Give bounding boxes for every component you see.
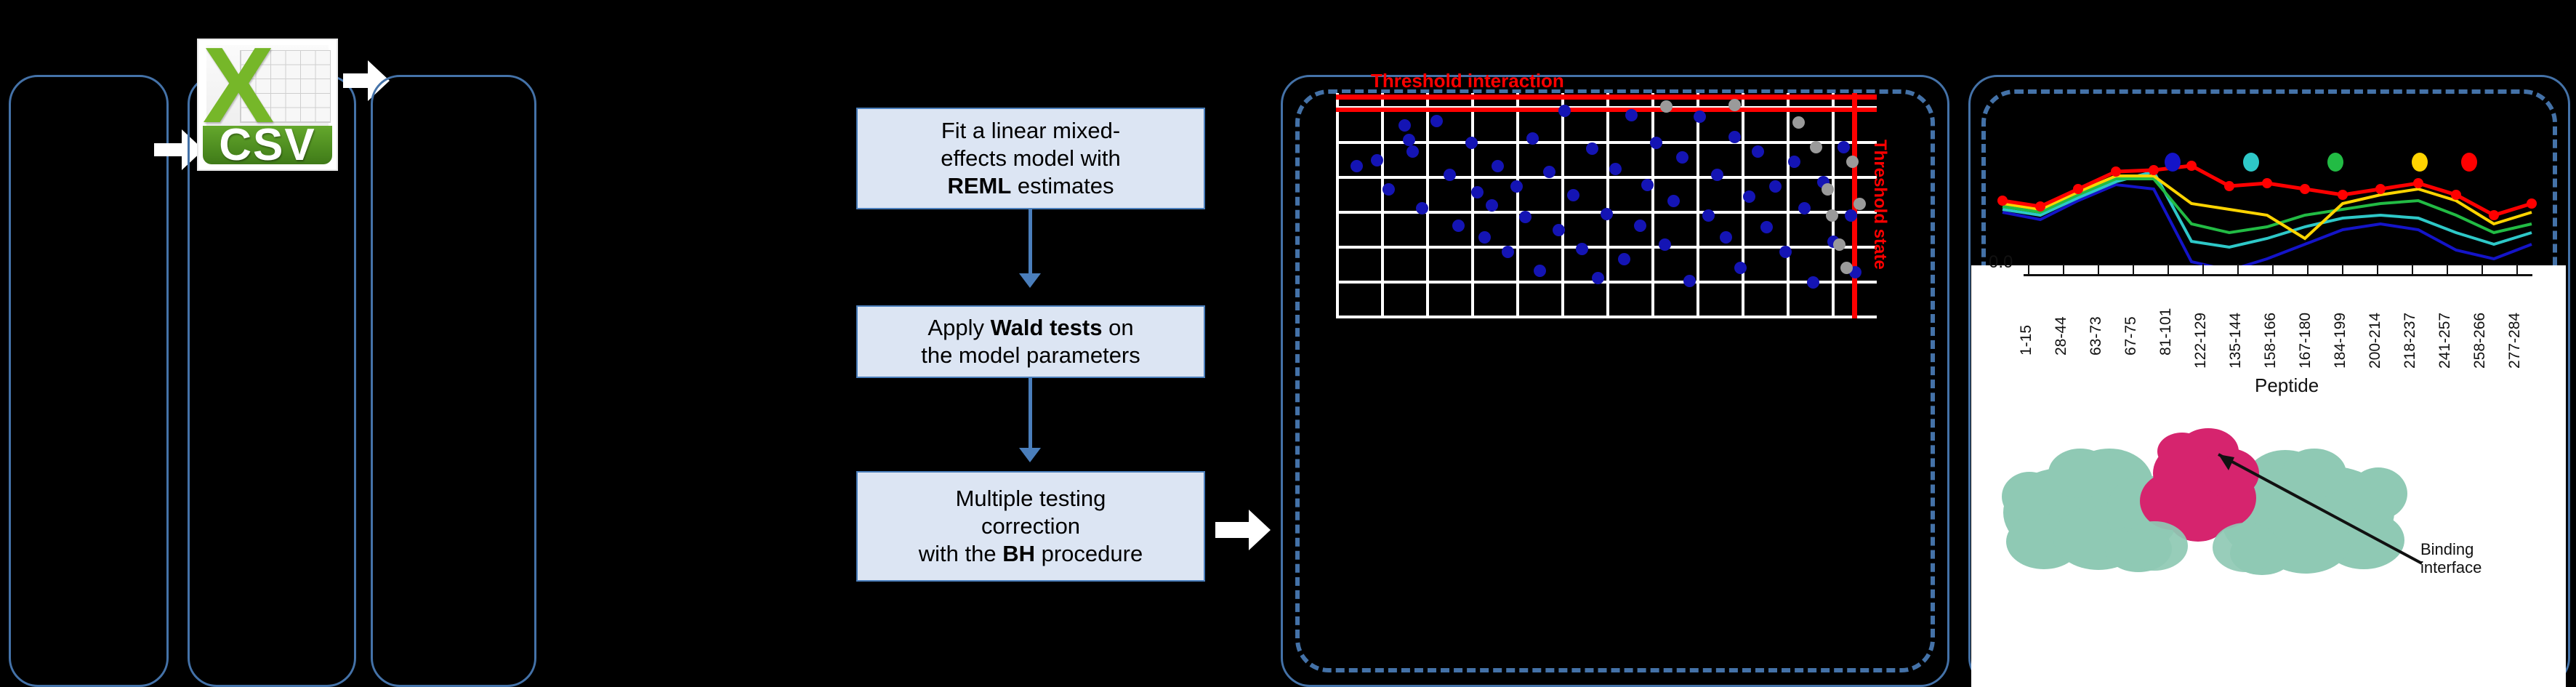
scatter-point	[1694, 111, 1706, 123]
x-axis-tick	[2307, 264, 2309, 274]
x-axis-tick	[2377, 264, 2378, 274]
scatter-point	[1382, 183, 1395, 196]
scatter-plot-area	[1336, 93, 1877, 318]
scatter-point	[1534, 265, 1546, 277]
x-axis-tick	[2063, 264, 2064, 274]
scatter-point	[1618, 253, 1630, 265]
scatter-point	[1625, 109, 1638, 121]
scatter-point	[1807, 276, 1819, 289]
scatter-point	[1779, 246, 1792, 258]
scatter-point-grey	[1660, 100, 1673, 113]
scatter-point	[1543, 166, 1555, 178]
scatter-threshold-interaction-label: Threshold interaction	[1371, 70, 1564, 92]
figure-canvas: X CSV Fit a linear mixed-effects model w…	[0, 0, 2576, 687]
x-tick-label: 258-266	[2471, 313, 2489, 369]
scatter-point	[1743, 190, 1755, 203]
scatter-point	[1634, 220, 1646, 232]
scatter-point	[1416, 202, 1428, 214]
scatter-point-grey	[1833, 238, 1846, 251]
scatter-point	[1471, 186, 1484, 198]
scatter-point	[1567, 189, 1579, 201]
scatter-point	[1676, 151, 1689, 164]
x-axis-tick	[2028, 264, 2029, 274]
x-axis-tick	[2516, 264, 2518, 274]
x-tick-label: 167-180	[2297, 313, 2314, 369]
scatter-point	[1752, 145, 1764, 158]
scatter-point	[1798, 202, 1811, 214]
process-box-wald-tests-text: Apply Wald tests onthe model parameters	[921, 314, 1140, 369]
scatter-point	[1478, 231, 1491, 244]
process-box-fit-model[interactable]: Fit a linear mixed-effects model withREM…	[856, 108, 1205, 209]
connector-wald-to-bh	[1029, 378, 1032, 451]
scatter-point	[1586, 142, 1598, 155]
binding-interface-leader	[2189, 433, 2429, 571]
y-axis-tick-0: 0.0	[1989, 252, 2013, 273]
scatter-point	[1760, 221, 1773, 233]
scatter-point	[1788, 156, 1800, 168]
scatter-point	[1430, 115, 1443, 127]
scatter-point	[1838, 141, 1850, 153]
x-tick-label: 1-15	[2018, 325, 2035, 355]
connector-fit-to-wald-arrow	[1019, 273, 1041, 288]
scatter-point	[1650, 137, 1662, 149]
scatter-threshold-state-label: Threshold state	[1869, 140, 1890, 270]
x-axis-tick	[2412, 264, 2413, 274]
csv-label-band: CSV	[203, 126, 333, 164]
x-tick-label: 122-129	[2192, 313, 2210, 369]
binding-interface-line2: interface	[2420, 558, 2482, 576]
scatter-point	[1403, 134, 1415, 146]
scatter-point	[1510, 180, 1523, 193]
scatter-point	[1398, 119, 1411, 132]
x-axis-line	[2024, 274, 2532, 276]
scatter-point	[1702, 209, 1715, 222]
scatter-point	[1601, 208, 1613, 220]
scatter-point	[1592, 272, 1604, 284]
process-box-wald-tests[interactable]: Apply Wald tests onthe model parameters	[856, 305, 1205, 378]
binding-interface-annotation: Binding interface	[2420, 540, 2482, 577]
scatter-point	[1465, 137, 1478, 149]
x-tick-label: 81-101	[2157, 308, 2175, 355]
scatter-point	[1734, 262, 1747, 274]
scatter-point	[1371, 154, 1383, 166]
x-axis-tick	[2202, 264, 2204, 274]
binding-interface-line1: Binding	[2420, 540, 2482, 558]
process-box-multiple-testing-text: Multiple testingcorrectionwith the BH pr…	[919, 485, 1143, 567]
x-tick-label: 184-199	[2332, 313, 2349, 369]
scatter-point	[1720, 231, 1732, 244]
scatter-point-grey	[1822, 183, 1834, 196]
scatter-point-grey	[1810, 141, 1822, 153]
threshold-interaction-line-2	[1336, 108, 1877, 112]
scatter-point-grey	[1840, 262, 1853, 274]
scatter-point	[1486, 199, 1498, 212]
process-box-multiple-testing[interactable]: Multiple testingcorrectionwith the BH pr…	[856, 471, 1205, 582]
x-tick-label: 28-44	[2053, 316, 2070, 355]
scatter-point-grey	[1853, 198, 1866, 210]
scatter-point	[1492, 160, 1504, 172]
x-axis-tick	[2133, 264, 2134, 274]
csv-label: CSV	[219, 119, 315, 171]
scatter-point	[1641, 179, 1654, 191]
connector-wald-to-bh-arrow	[1019, 448, 1041, 462]
scatter-point	[1452, 220, 1465, 232]
scatter-point	[1558, 105, 1571, 117]
x-tick-label: 63-73	[2088, 316, 2105, 355]
scatter-point-grey	[1846, 156, 1859, 168]
x-tick-label: 135-144	[2227, 313, 2245, 369]
x-axis-tick	[2272, 264, 2274, 274]
scatter-point	[1519, 211, 1531, 223]
threshold-interaction-line	[1336, 95, 1877, 100]
x-axis-tick	[2168, 264, 2169, 274]
scatter-point	[1659, 238, 1671, 251]
x-tick-label: 67-75	[2122, 316, 2140, 355]
x-tick-label: 158-166	[2262, 313, 2279, 369]
arrow-stats-to-scatter	[1215, 509, 1273, 551]
scatter-point	[1351, 160, 1363, 172]
scatter-point	[1769, 180, 1782, 193]
excel-x-glyph: X	[203, 35, 266, 115]
scatter-point	[1576, 243, 1588, 255]
scatter-point-grey	[1728, 99, 1741, 111]
scatter-point	[1553, 224, 1565, 236]
scatter-point	[1667, 195, 1680, 207]
process-box-fit-model-text: Fit a linear mixed-effects model withREM…	[941, 117, 1121, 199]
stage-data-source[interactable]	[9, 75, 169, 687]
connector-fit-to-wald	[1029, 209, 1032, 276]
scatter-point	[1609, 163, 1622, 175]
x-axis-tick	[2098, 264, 2099, 274]
scatter-point	[1683, 275, 1696, 287]
structure-card: 0.0 1-15 28-44 63-73 67-75 81-101 122-12…	[1971, 120, 2566, 687]
x-tick-label: 200-214	[2367, 313, 2384, 369]
x-axis-tick	[2447, 264, 2448, 274]
scatter-point	[1845, 209, 1857, 222]
stage-statistics[interactable]	[371, 75, 536, 687]
scatter-point	[1444, 169, 1456, 181]
scatter-point	[1526, 132, 1539, 145]
x-axis-title: Peptide	[2255, 374, 2319, 397]
x-tick-label: 277-284	[2506, 313, 2524, 369]
scatter-point	[1406, 145, 1419, 158]
x-axis-tick	[2342, 264, 2343, 274]
x-tick-label: 241-257	[2436, 313, 2454, 369]
scatter-point-grey	[1792, 116, 1805, 129]
x-axis-tick	[2237, 264, 2239, 274]
csv-file-icon[interactable]: X CSV	[198, 40, 337, 169]
x-axis-tick	[2482, 264, 2483, 274]
x-tick-label: 218-237	[2402, 313, 2419, 369]
scatter-point-grey	[1826, 209, 1838, 222]
scatter-point	[1711, 169, 1723, 181]
scatter-point	[1728, 131, 1741, 143]
scatter-point	[1502, 246, 1514, 258]
